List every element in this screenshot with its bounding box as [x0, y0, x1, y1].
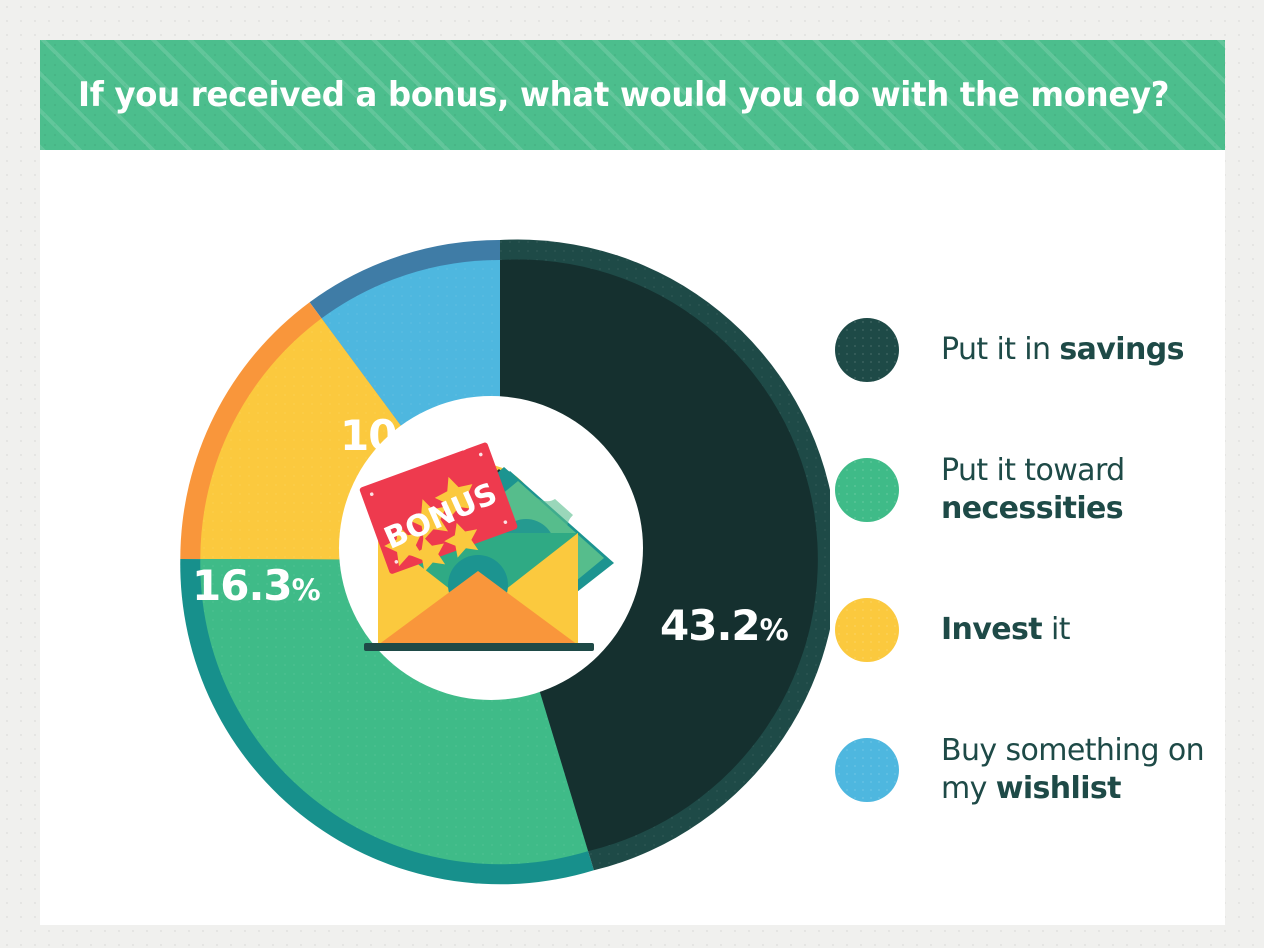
- legend-item-invest[interactable]: Invest it: [835, 560, 1225, 700]
- legend-item-necessities[interactable]: Put it toward necessities: [835, 420, 1225, 560]
- slice-label-savings: 43.2%: [660, 605, 788, 647]
- slice-value-invest: 16.3: [192, 561, 292, 610]
- legend-item-savings[interactable]: Put it in savings: [835, 280, 1225, 420]
- legend-label-invest-post: it: [1042, 612, 1070, 647]
- legend-swatch-savings: [835, 318, 899, 382]
- legend-swatch-wishlist: [835, 738, 899, 802]
- slice-label-necessities: 30.1%: [282, 872, 410, 914]
- percent-sign-wishlist: %: [440, 423, 468, 457]
- percent-sign-invest: %: [292, 573, 320, 607]
- chart-legend: Put it in savings Put it toward necessit…: [835, 280, 1225, 840]
- legend-label-necessities-pre: Put it toward: [941, 453, 1125, 488]
- legend-label-wishlist-strong: wishlist: [996, 771, 1121, 806]
- legend-swatch-invest: [835, 598, 899, 662]
- legend-label-invest: Invest it: [941, 611, 1070, 649]
- legend-label-savings-pre: Put it in: [941, 332, 1059, 367]
- legend-label-savings: Put it in savings: [941, 331, 1184, 369]
- infographic-card: If you received a bonus, what would you …: [40, 40, 1225, 925]
- legend-item-wishlist[interactable]: Buy something on my wishlist: [835, 700, 1225, 840]
- legend-label-necessities: Put it toward necessities: [941, 452, 1225, 529]
- percent-sign-necessities: %: [382, 880, 410, 914]
- donut-chart: BONUS 43.2% 30.1% 16.3% 10.4%: [40, 150, 830, 925]
- slice-value-wishlist: 10.4: [340, 411, 440, 460]
- legend-swatch-necessities: [835, 458, 899, 522]
- legend-label-wishlist: Buy something on my wishlist: [941, 732, 1225, 809]
- slice-label-wishlist: 10.4%: [340, 415, 468, 457]
- legend-label-savings-strong: savings: [1059, 332, 1183, 367]
- slice-label-invest: 16.3%: [192, 565, 320, 607]
- percent-sign-savings: %: [760, 613, 788, 647]
- header-banner: If you received a bonus, what would you …: [40, 40, 1225, 150]
- legend-label-invest-strong: Invest: [941, 612, 1042, 647]
- page-title: If you received a bonus, what would you …: [78, 40, 1169, 150]
- slice-value-necessities: 30.1: [282, 868, 382, 917]
- legend-label-necessities-strong: necessities: [941, 491, 1123, 526]
- slice-value-savings: 43.2: [660, 601, 760, 650]
